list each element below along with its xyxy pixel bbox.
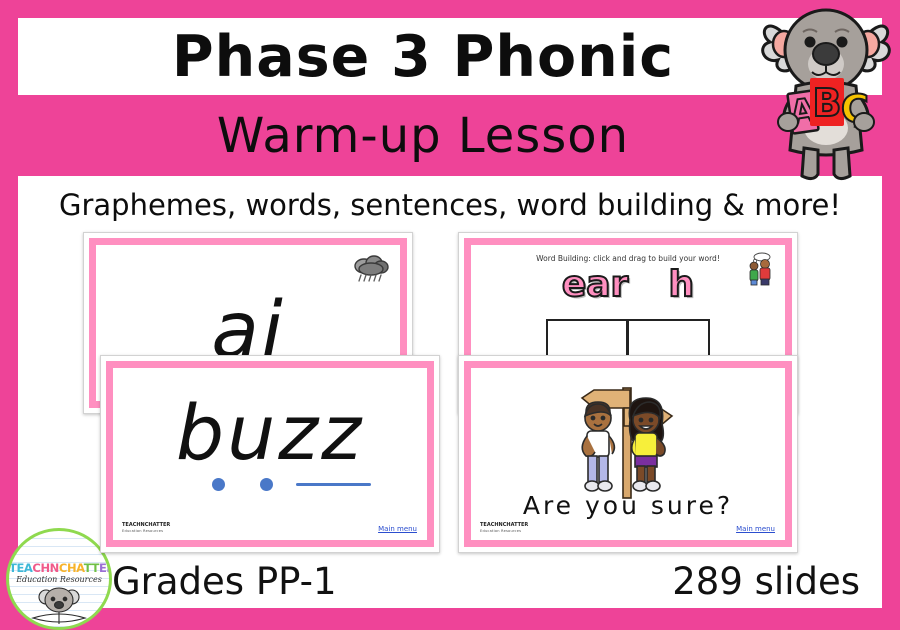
- word-text: buzz: [113, 388, 427, 477]
- two-children-signpost-icon: [568, 376, 688, 508]
- koala-reading-icon: [29, 586, 89, 630]
- rain-cloud-icon: [352, 253, 390, 289]
- word-building-heading: Word Building: click and drag to build y…: [471, 254, 785, 263]
- brand-logo-name: TEACHNCHATTER: [9, 561, 109, 575]
- slide-thumbnail-word-buzz[interactable]: buzz TEACHNCHATTER Education Resources M…: [100, 355, 440, 553]
- sentence-text: Are you sure?: [471, 491, 785, 520]
- main-menu-link[interactable]: Main menu: [378, 525, 417, 533]
- main-menu-link[interactable]: Main menu: [736, 525, 775, 533]
- brand-logo: TEACHNCHATTER Education Resources: [6, 528, 112, 630]
- letter-tiles: ear h: [471, 267, 785, 303]
- children-talking-icon: [743, 252, 777, 290]
- slide-count-label: 289 slides: [672, 560, 860, 603]
- svg-text:B: B: [813, 81, 842, 125]
- slide-frame: Are you sure? TEACHNCHATTER Education Re…: [464, 361, 792, 547]
- letter-tile-ear[interactable]: ear: [562, 267, 628, 303]
- grades-label: Grades PP-1: [112, 560, 337, 603]
- koala-abc-mascot-icon: A B C: [752, 0, 900, 182]
- brand-logo-subtitle: Education Resources: [9, 575, 109, 584]
- sound-button-dot[interactable]: [260, 478, 273, 491]
- page-title: Phase 3 Phonic: [18, 18, 828, 95]
- page-description: Graphemes, words, sentences, word buildi…: [18, 180, 882, 230]
- slide-thumbnail-sentence[interactable]: Are you sure? TEACHNCHATTER Education Re…: [458, 355, 798, 553]
- letter-tile-h[interactable]: h: [669, 267, 695, 303]
- product-cover: Phase 3 Phonic Warm-up Lesson Graphemes,…: [0, 0, 900, 630]
- slide-footer-logo: TEACHNCHATTER Education Resources: [480, 522, 532, 534]
- page-subtitle: Warm-up Lesson: [18, 95, 828, 176]
- slide-footer-logo: TEACHNCHATTER Education Resources: [122, 522, 174, 534]
- sound-button-dot[interactable]: [212, 478, 225, 491]
- slide-frame: buzz TEACHNCHATTER Education Resources M…: [106, 361, 434, 547]
- sound-button-line[interactable]: [296, 483, 371, 486]
